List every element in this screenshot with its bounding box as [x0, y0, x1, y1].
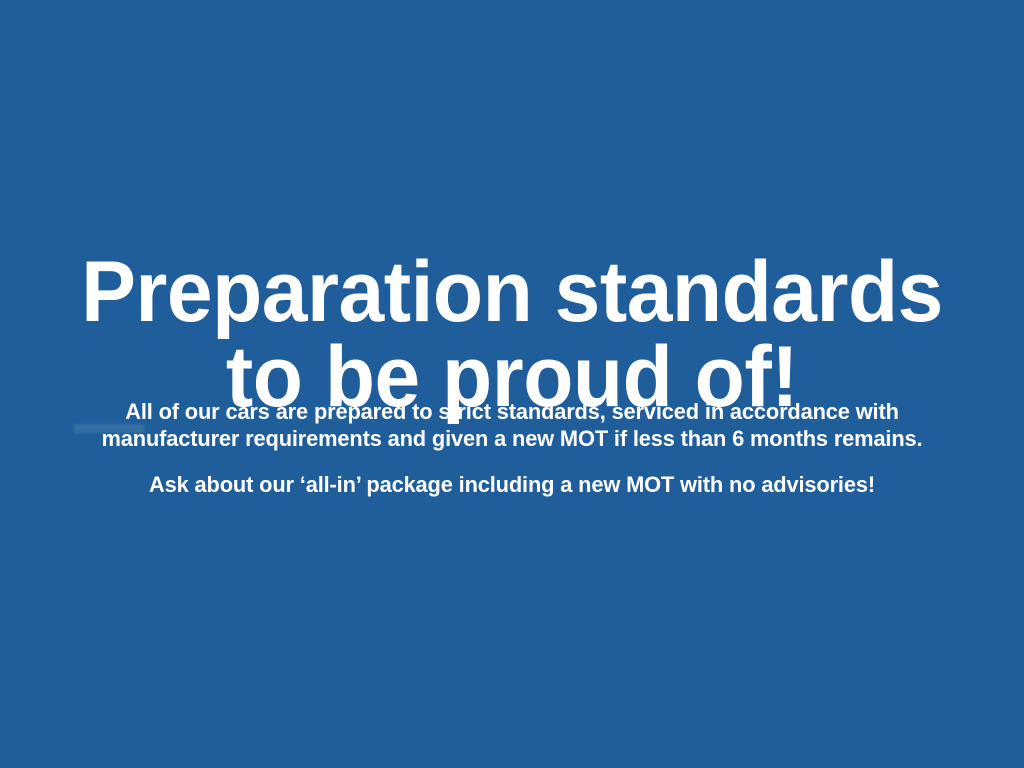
body-text-group: All of our cars are prepared to strict s…	[62, 398, 962, 498]
body-paragraph-all-in-offer: Ask about our ‘all-in’ package including…	[76, 471, 949, 498]
slide-canvas: Preparation standards to be proud of! Al…	[0, 0, 1024, 768]
headline-line-1: Preparation standards	[23, 250, 1001, 335]
body-paragraph-standards: All of our cars are prepared to strict s…	[76, 398, 949, 452]
page-title: Preparation standards to be proud of!	[23, 250, 1001, 420]
